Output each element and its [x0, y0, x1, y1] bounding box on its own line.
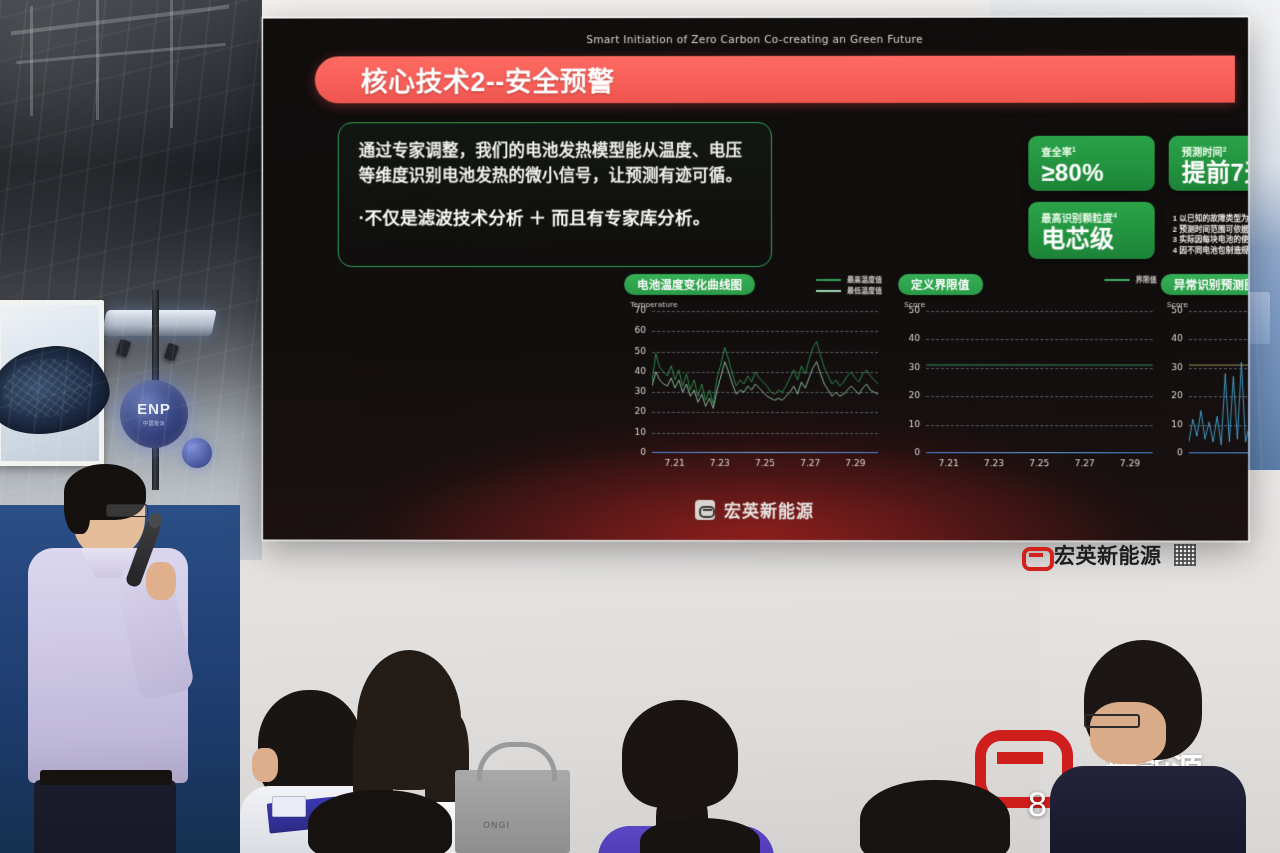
chart-plot-area: 01020304050: [1161, 311, 1248, 472]
copy-paragraph-2: ·不仅是滤波技术分析 ＋ 而且有专家库分析。: [359, 205, 753, 231]
chart-header: 电池温度变化曲线图最高温度值最低温度值: [624, 274, 882, 296]
product-image: [0, 339, 114, 441]
presenter-belt: [40, 770, 172, 785]
y-tick-label: 60: [624, 326, 646, 336]
booth-pole: [152, 290, 159, 490]
chart-series-canvas: [652, 311, 878, 453]
x-tick-label: 7.27: [1075, 459, 1095, 469]
y-tick-label: 10: [624, 428, 646, 438]
kpi-card-granularity: 最高识别颗粒度4 电芯级: [1028, 202, 1154, 259]
y-tick-label: 30: [624, 387, 646, 397]
slide-copy-box: 通过专家调整，我们的电池发热模型能从温度、电压等维度识别电池发热的微小信号，让预…: [338, 122, 772, 267]
chart-title-chip: 定义界限值: [898, 274, 983, 295]
chart-legend: 最高温度值最低温度值: [816, 274, 882, 296]
tote-bag: ONGI: [455, 770, 570, 853]
x-axis: [926, 452, 1153, 454]
booth-display-screen: [0, 300, 104, 466]
legend-swatch: [816, 278, 841, 280]
audience-hair: [860, 780, 1010, 853]
x-tick-label: 7.27: [800, 459, 820, 469]
audience-face: [1090, 702, 1166, 764]
y-tick-label: 50: [624, 347, 646, 357]
enp-accent-circle: [182, 438, 212, 468]
x-tick-label: 7.25: [1029, 459, 1049, 469]
audience-member: [860, 780, 1010, 853]
copy-paragraph-1: 通过专家调整，我们的电池发热模型能从温度、电压等维度识别电池发热的微小信号，让预…: [359, 139, 753, 189]
chart-series-canvas: [1189, 311, 1248, 453]
audience-member: [300, 790, 460, 853]
enp-logo-text: ENP: [137, 401, 171, 418]
ceiling-truss: [30, 6, 33, 116]
y-tick-label: 20: [624, 407, 646, 417]
audience-shoulders: [1050, 766, 1246, 853]
page-title: 核心技术2--安全预警: [361, 60, 615, 99]
y-tick-label: 40: [898, 334, 920, 344]
chart-legend: 界限值: [1105, 274, 1157, 285]
brand-name: 宏英新能源: [724, 497, 814, 522]
y-tick-label: 0: [1161, 448, 1183, 458]
x-tick-label: 7.21: [665, 459, 685, 469]
chart-title-chip: 电池温度变化曲线图: [624, 274, 755, 295]
legend-item: 最高温度值: [816, 274, 882, 285]
ceiling-truss: [170, 0, 173, 128]
presenter-hand: [146, 562, 176, 600]
presenter-hair: [64, 480, 90, 534]
slide-tagline: Smart Initiation of Zero Carbon Co-creat…: [263, 33, 1248, 46]
x-tick-label: 7.25: [755, 459, 775, 469]
ceiling-truss: [11, 5, 230, 36]
legend-label: 最低温度值: [847, 286, 882, 296]
footnote-2: 2 预测时间范围可依据需求调整，以实际结果为准。: [1173, 224, 1248, 235]
chart-series-canvas: [926, 311, 1153, 453]
chart-anomaly-prediction: 异常识别预测图界限值异常分数Score01020304050: [1161, 274, 1248, 485]
enp-logo: ENP 中国能派: [120, 380, 188, 448]
y-tick-label: 30: [898, 363, 920, 373]
exhibition-photo-scene: 派 ENP 中国能派 Smart Initiation of Zero Carb…: [0, 0, 1280, 853]
chart-header: 异常识别预测图界限值异常分数: [1161, 274, 1248, 296]
kpi-label: 查全率1: [1041, 144, 1142, 159]
y-tick-label: 10: [898, 420, 920, 430]
kpi-card-lead-time: 预测时间2 提前7天: [1169, 136, 1248, 191]
chart-plot-area: 0102030405060707.217.237.257.277.29: [624, 311, 882, 471]
x-tick-label: 7.21: [939, 459, 959, 469]
slide-footer-brand: 宏英新能源: [263, 497, 1248, 523]
wall-brand-bar: 宏英新能源: [1022, 540, 1196, 570]
company-name: 宏英新能源: [1054, 540, 1162, 570]
y-tick-label: 10: [1161, 420, 1183, 430]
y-tick-label: 0: [624, 448, 646, 458]
y-tick-label: 50: [898, 306, 920, 316]
y-axis-label: Temperature: [630, 300, 882, 309]
slide-footnotes: 1 以已知的故障类型为基础，实际因场景和电池材料不同有区别 。 2 预测时间范围…: [1173, 214, 1248, 257]
y-tick-label: 70: [624, 306, 646, 316]
chart-plot-area: 010203040507.217.237.257.277.29: [898, 311, 1157, 471]
qr-code-icon: [1174, 544, 1196, 566]
large-logo-watermark-icon: [975, 730, 1051, 786]
legend-swatch: [816, 290, 841, 292]
legend-item: 最低温度值: [816, 285, 882, 296]
chart-title-chip: 异常识别预测图: [1161, 274, 1248, 295]
audience-member: [640, 818, 760, 853]
audience-hair: [640, 818, 760, 853]
chart-temperature-curve: 电池温度变化曲线图最高温度值最低温度值Temperature0102030405…: [624, 274, 882, 484]
company-logo-icon: [1022, 543, 1046, 567]
kpi-value: 电芯级: [1041, 226, 1142, 254]
audience-hair: [308, 790, 452, 853]
kpi-value: ≥80%: [1041, 160, 1142, 188]
brand-mark-icon: [695, 499, 715, 519]
projection-screen: Smart Initiation of Zero Carbon Co-creat…: [263, 17, 1248, 540]
y-tick-label: 40: [624, 367, 646, 377]
ceiling-truss: [16, 43, 225, 64]
x-tick-label: 7.23: [710, 459, 730, 469]
presenter-trousers: [34, 780, 176, 853]
glasses-icon: [106, 504, 148, 517]
y-tick-label: 30: [1161, 363, 1183, 373]
spotlight-icon: [164, 343, 179, 362]
audience-hand: [252, 748, 278, 782]
slide-title-banner: 核心技术2--安全预警: [315, 56, 1235, 104]
presenter: [28, 470, 218, 853]
y-tick-label: 20: [1161, 391, 1183, 401]
x-axis: [1189, 452, 1248, 454]
legend-item: 界限值: [1105, 274, 1157, 285]
chart-header: 定义界限值界限值: [898, 274, 1157, 296]
kpi-value: 提前7天: [1182, 160, 1248, 188]
y-tick-label: 50: [1161, 306, 1183, 316]
y-axis-label: Score: [904, 300, 1157, 309]
booth-canopy: [101, 310, 217, 336]
legend-swatch: [1105, 278, 1130, 280]
chart-threshold-definition: 定义界限值界限值Score010203040507.217.237.257.27…: [898, 274, 1157, 484]
ceiling-truss: [96, 0, 99, 120]
y-tick-label: 20: [898, 391, 920, 401]
enp-logo-subtext: 中国能派: [143, 420, 165, 427]
audience-member: [1060, 640, 1230, 853]
kpi-card-recall: 查全率1 ≥80%: [1028, 136, 1154, 191]
x-tick-label: 7.29: [1120, 459, 1140, 469]
y-tick-label: 40: [1161, 334, 1183, 344]
x-axis: [652, 451, 878, 453]
legend-label: 界限值: [1136, 274, 1157, 284]
kpi-label: 预测时间2: [1182, 144, 1248, 159]
glasses-icon: [1084, 714, 1140, 728]
spotlight-icon: [116, 339, 131, 358]
booth-sign-text: 派: [4, 296, 70, 324]
footnote-4: 4 因不同电池包制造规格和数据质量而各不同。: [1173, 246, 1248, 257]
x-tick-label: 7.23: [984, 459, 1004, 469]
tote-brand-text: ONGI: [483, 820, 510, 830]
kpi-label: 最高识别颗粒度4: [1041, 210, 1142, 225]
x-tick-label: 7.29: [845, 459, 865, 469]
legend-label: 最高温度值: [847, 274, 882, 284]
y-tick-label: 0: [898, 448, 920, 458]
footnote-1: 1 以已知的故障类型为基础，实际因场景和电池材料不同有区别 。: [1173, 214, 1248, 225]
presentation-slide: Smart Initiation of Zero Carbon Co-creat…: [263, 17, 1248, 540]
footnote-3: 3 实际因每块电池的使用场景不同而有差异。: [1173, 235, 1248, 246]
